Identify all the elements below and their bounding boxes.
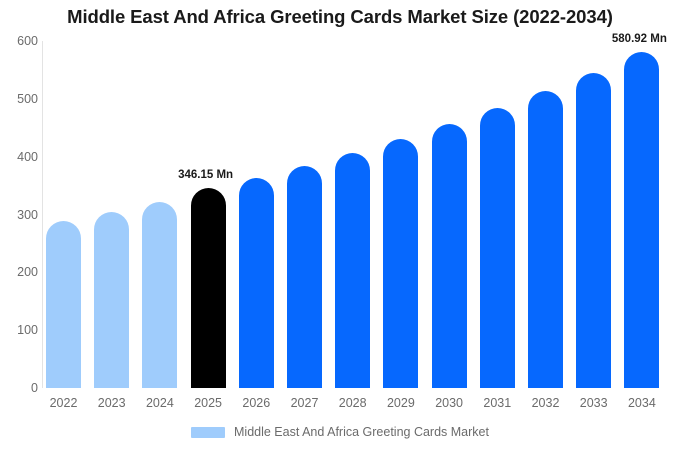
y-tick-label: 400 (2, 150, 38, 164)
bar-rect (335, 153, 370, 388)
bar-rect (624, 52, 659, 388)
data-label-2034: 580.92 Mn (612, 33, 667, 45)
x-tick-label: 2029 (383, 396, 418, 410)
x-tick-label: 2028 (335, 396, 370, 410)
bar-rect (287, 166, 322, 388)
x-tick-label: 2027 (287, 396, 322, 410)
bar-rect (142, 202, 177, 388)
bar-rect (191, 188, 226, 388)
bar-rect (432, 124, 467, 388)
bar-2029[interactable] (383, 41, 418, 388)
chart-title: Middle East And Africa Greeting Cards Ma… (0, 6, 680, 28)
bar-2033[interactable] (576, 41, 611, 388)
bar-2034[interactable] (624, 41, 659, 388)
bar-2028[interactable] (335, 41, 370, 388)
bar-rect (480, 108, 515, 388)
bar-2026[interactable] (239, 41, 274, 388)
x-tick-label: 2024 (142, 396, 177, 410)
bar-2031[interactable] (480, 41, 515, 388)
x-tick-label: 2033 (576, 396, 611, 410)
legend-swatch (191, 427, 225, 438)
bar-chart: Middle East And Africa Greeting Cards Ma… (0, 0, 680, 450)
y-tick-label: 300 (2, 208, 38, 222)
bar-2030[interactable] (432, 41, 467, 388)
chart-legend: Middle East And Africa Greeting Cards Ma… (0, 425, 680, 439)
bar-2023[interactable] (94, 41, 129, 388)
bar-2024[interactable] (142, 41, 177, 388)
x-tick-label: 2025 (191, 396, 226, 410)
data-label-2025: 346.15 Mn (178, 169, 233, 181)
bar-rect (46, 221, 81, 388)
y-tick-label: 200 (2, 265, 38, 279)
x-tick-label: 2023 (94, 396, 129, 410)
bar-rect (383, 139, 418, 388)
y-tick-label: 500 (2, 92, 38, 106)
legend-label: Middle East And Africa Greeting Cards Ma… (234, 425, 489, 439)
x-tick-label: 2031 (480, 396, 515, 410)
bar-2032[interactable] (528, 41, 563, 388)
bar-rect (528, 91, 563, 388)
bar-2022[interactable] (46, 41, 81, 388)
x-tick-label: 2022 (46, 396, 81, 410)
bar-rect (239, 178, 274, 388)
x-tick-label: 2034 (624, 396, 659, 410)
y-tick-label: 100 (2, 323, 38, 337)
bar-2025[interactable] (191, 41, 226, 388)
y-axis: 0100200300400500600 (0, 0, 38, 450)
bar-rect (576, 73, 611, 388)
bar-2027[interactable] (287, 41, 322, 388)
bar-rect (94, 212, 129, 388)
y-tick-label: 600 (2, 34, 38, 48)
plot-area (42, 38, 672, 391)
x-tick-label: 2032 (528, 396, 563, 410)
y-tick-label: 0 (2, 381, 38, 395)
x-tick-label: 2030 (432, 396, 467, 410)
x-tick-label: 2026 (239, 396, 274, 410)
